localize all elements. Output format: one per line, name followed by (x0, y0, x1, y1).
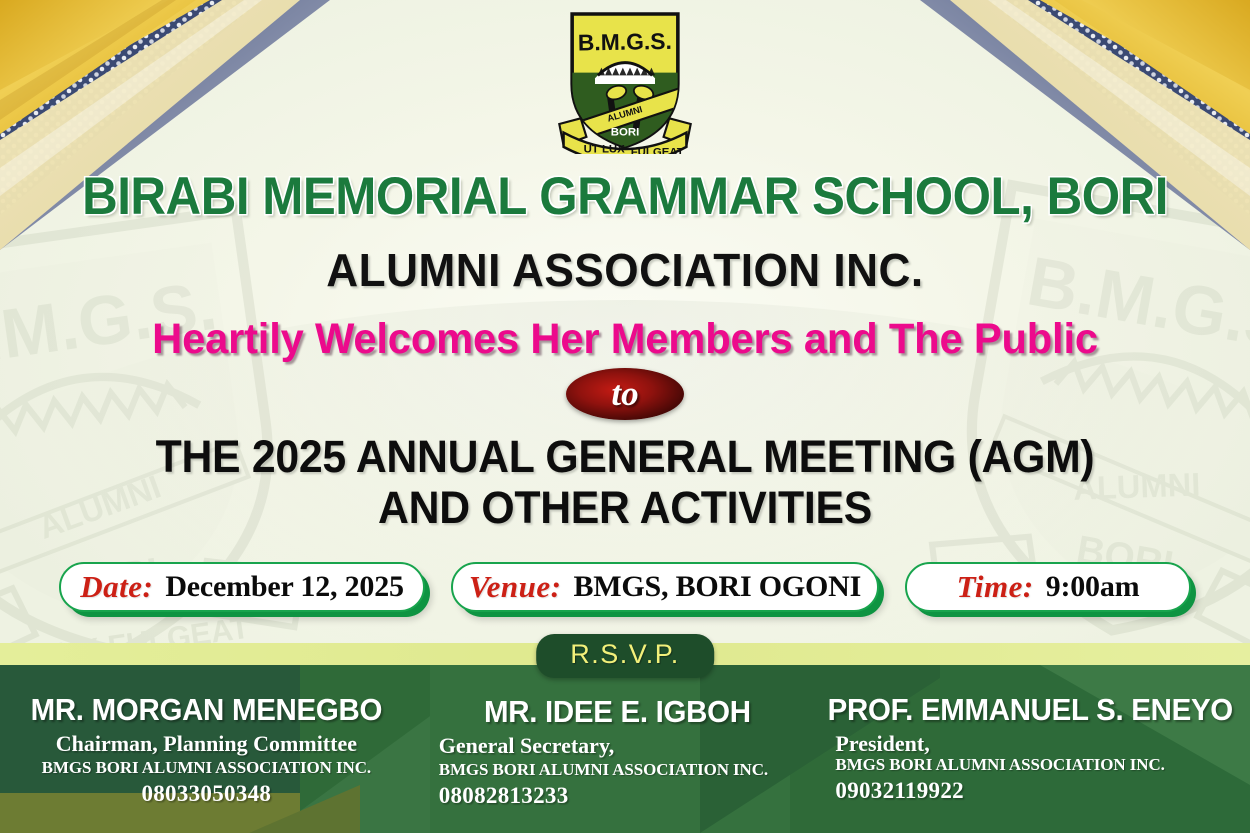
venue-label: Venue: (469, 569, 562, 605)
date-value: December 12, 2025 (165, 570, 403, 604)
contact-general-secretary: MR. IDEE E. IGBOH General Secretary, BMG… (417, 690, 818, 833)
contact-org: BMGS BORI ALUMNI ASSOCIATION INC. (6, 758, 407, 778)
contact-role: Chairman, Planning Committee (6, 731, 407, 757)
detail-pill-date: Date: December 12, 2025 (59, 562, 425, 612)
event-details-row: Date: December 12, 2025 Venue: BMGS, BOR… (0, 562, 1250, 612)
rsvp-label: R.S.V.P. (570, 639, 680, 669)
time-value: 9:00am (1046, 570, 1140, 604)
rsvp-badge: R.S.V.P. (536, 634, 714, 678)
to-badge-label: to (611, 376, 638, 411)
contact-org: BMGS BORI ALUMNI ASSOCIATION INC. (817, 755, 1244, 775)
association-name-heading: ALUMNI ASSOCIATION INC. (25, 243, 1225, 297)
contact-phone[interactable]: 08033050348 (6, 781, 407, 807)
event-title-line-2: AND OTHER ACTIVITIES (31, 483, 1219, 534)
contact-name: MR. MORGAN MENEGBO (16, 692, 397, 728)
bmgs-crest-logo: B.M.G.S. ALUMNI BORI UT LUX FULGEAT (550, 4, 700, 154)
contact-org: BMGS BORI ALUMNI ASSOCIATION INC. (417, 760, 818, 780)
date-label: Date: (80, 569, 153, 605)
logo-bori-text: BORI (611, 126, 640, 138)
contacts-row: MR. MORGAN MENEGBO Chairman, Planning Co… (0, 690, 1250, 833)
detail-pill-venue: Venue: BMGS, BORI OGONI (451, 562, 879, 612)
contact-name: MR. IDEE E. IGBOH (427, 694, 808, 730)
detail-pill-time: Time: 9:00am (905, 562, 1191, 612)
contact-chairman: MR. MORGAN MENEGBO Chairman, Planning Co… (6, 690, 417, 833)
welcome-line: Heartily Welcomes Her Members and The Pu… (19, 315, 1232, 364)
event-title-line-1: THE 2025 ANNUAL GENERAL MEETING (AGM) (31, 432, 1219, 483)
logo-initials-text: B.M.G.S. (578, 28, 672, 56)
contact-president: PROF. EMMANUEL S. ENEYO President, BMGS … (817, 690, 1244, 833)
contact-role: President, (817, 731, 1244, 757)
contact-role: General Secretary, (417, 733, 818, 759)
venue-value: BMGS, BORI OGONI (573, 570, 861, 604)
contact-phone[interactable]: 09032119922 (817, 778, 1244, 804)
event-flyer: B.M.G.S. ALUMNI BORI UT LUX FULGEAT B.M.… (0, 0, 1250, 833)
event-title: THE 2025 ANNUAL GENERAL MEETING (AGM) AN… (31, 432, 1219, 534)
contact-name: PROF. EMMANUEL S. ENEYO (828, 692, 1233, 728)
time-label: Time: (957, 569, 1034, 605)
contact-phone[interactable]: 08082813233 (417, 783, 818, 809)
school-name-heading: BIRABI MEMORIAL GRAMMAR SCHOOL, BORI (44, 170, 1207, 223)
to-badge: to (566, 368, 684, 420)
